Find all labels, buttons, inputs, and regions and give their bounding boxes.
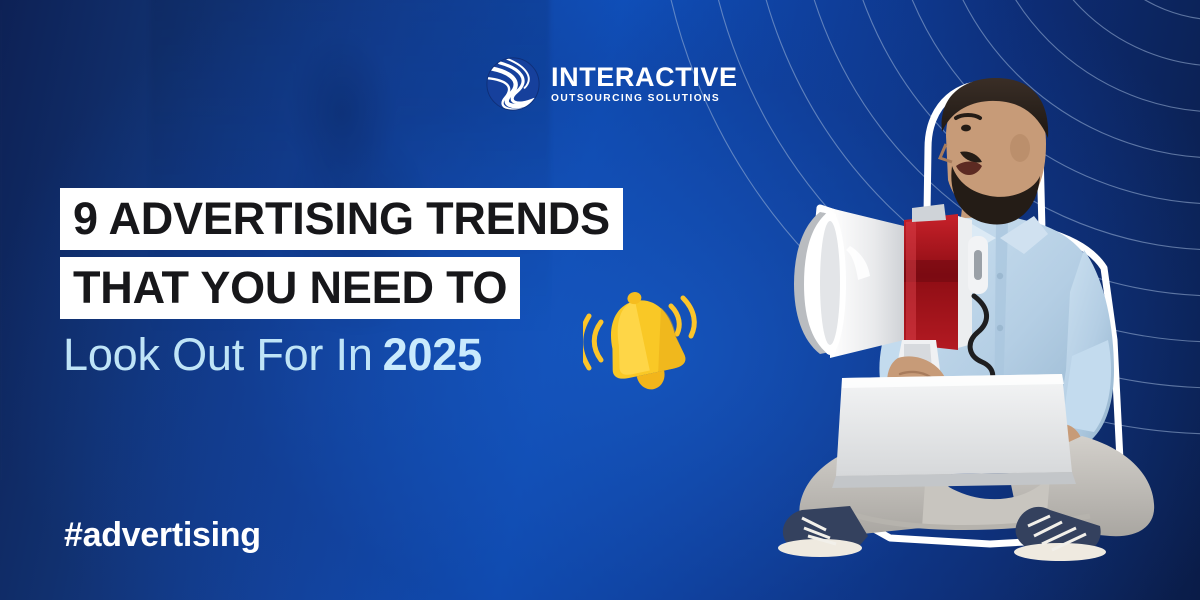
headline-line2-row: THAT YOU NEED TO — [60, 257, 623, 319]
headline-line3: Look Out For In2025 — [60, 332, 623, 377]
headline-line1-row: 9 ADVERTISING TRENDS — [60, 188, 623, 250]
headline-block: 9 ADVERTISING TRENDS THAT YOU NEED TO Lo… — [60, 188, 623, 377]
headline-line3-prefix: Look Out For In — [63, 329, 373, 380]
headline-line2: THAT YOU NEED TO — [60, 257, 520, 319]
headline-year: 2025 — [383, 329, 482, 380]
laptop-icon — [832, 374, 1076, 488]
advertising-banner: INTERACTIVE OUTSOURCING SOLUTIONS 9 ADVE… — [0, 0, 1200, 600]
hashtag-label: #advertising — [64, 516, 261, 555]
man-with-megaphone-and-laptop — [690, 40, 1160, 600]
globe-sphere-icon — [484, 55, 542, 113]
headline-line1: 9 ADVERTISING TRENDS — [60, 188, 623, 250]
